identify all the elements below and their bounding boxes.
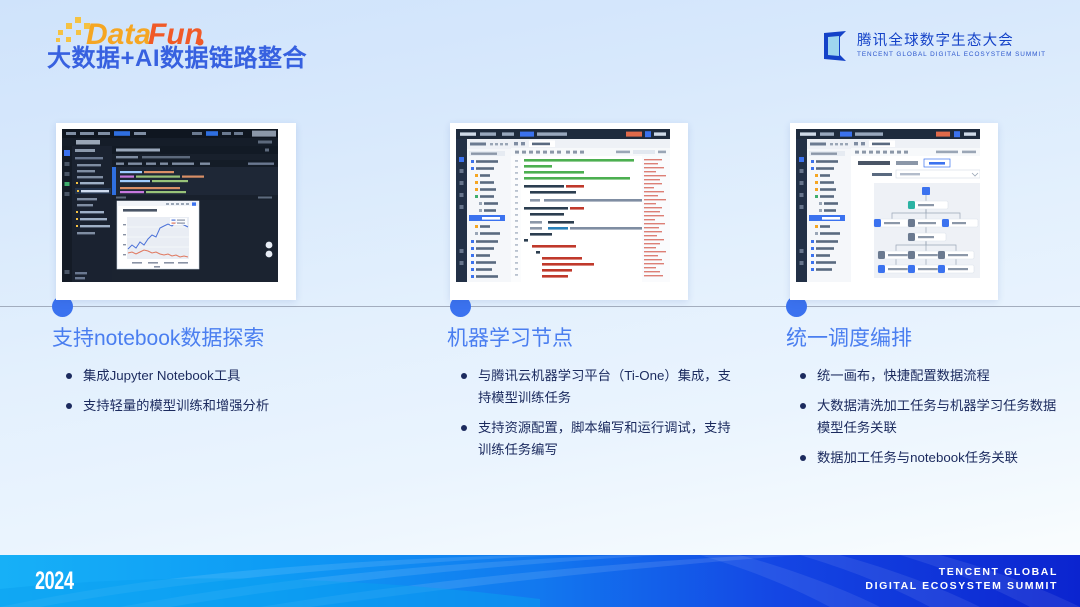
slide-footer: 2024 TENCENT GLOBAL DIGITAL ECOSYSTEM SU… [0, 555, 1080, 607]
feature-list-1: 集成Jupyter Notebook工具 支持轻量的模型训练和增强分析 [64, 365, 374, 425]
list-item: 统一画布，快捷配置数据流程 [798, 365, 1068, 387]
column-heading-2: 机器学习节点 [447, 322, 573, 352]
list-item: 集成Jupyter Notebook工具 [64, 365, 374, 387]
code-editor-screenshot [456, 129, 682, 294]
list-item: 支持资源配置，脚本编写和运行调试，支持训练任务编写 [459, 417, 734, 461]
list-item: 数据加工任务与notebook任务关联 [798, 447, 1068, 469]
footer-line-2: DIGITAL ECOSYSTEM SUMMIT [865, 579, 1058, 593]
thumbnail-card-3 [790, 123, 998, 300]
list-item: 支持轻量的模型训练和增强分析 [64, 395, 374, 417]
feature-list-3: 统一画布，快捷配置数据流程 大数据清洗加工任务与机器学习任务数据模型任务关联 数… [798, 365, 1068, 477]
footer-line-1: TENCENT GLOBAL [865, 565, 1058, 579]
footer-summit-name: TENCENT GLOBAL DIGITAL ECOSYSTEM SUMMIT [865, 565, 1058, 593]
notebook-ide-screenshot [62, 129, 290, 294]
list-item: 与腾讯云机器学习平台（Ti-One）集成，支持模型训练任务 [459, 365, 734, 409]
column-heading-1: 支持notebook数据探索 [52, 322, 264, 352]
list-item: 大数据清洗加工任务与机器学习任务数据模型任务关联 [798, 395, 1068, 439]
feature-list-2: 与腾讯云机器学习平台（Ti-One）集成，支持模型训练任务 支持资源配置，脚本编… [459, 365, 734, 469]
thumbnail-card-2 [450, 123, 688, 300]
column-heading-3: 统一调度编排 [786, 322, 912, 352]
workflow-dag-screenshot [796, 129, 992, 294]
footer-year: 2024 [35, 567, 74, 596]
presentation-slide: Data Fun 大数据+AI数据链路整合 腾讯全球数字生态大会 TENCENT… [0, 0, 1080, 607]
thumbnail-card-1 [56, 123, 296, 300]
